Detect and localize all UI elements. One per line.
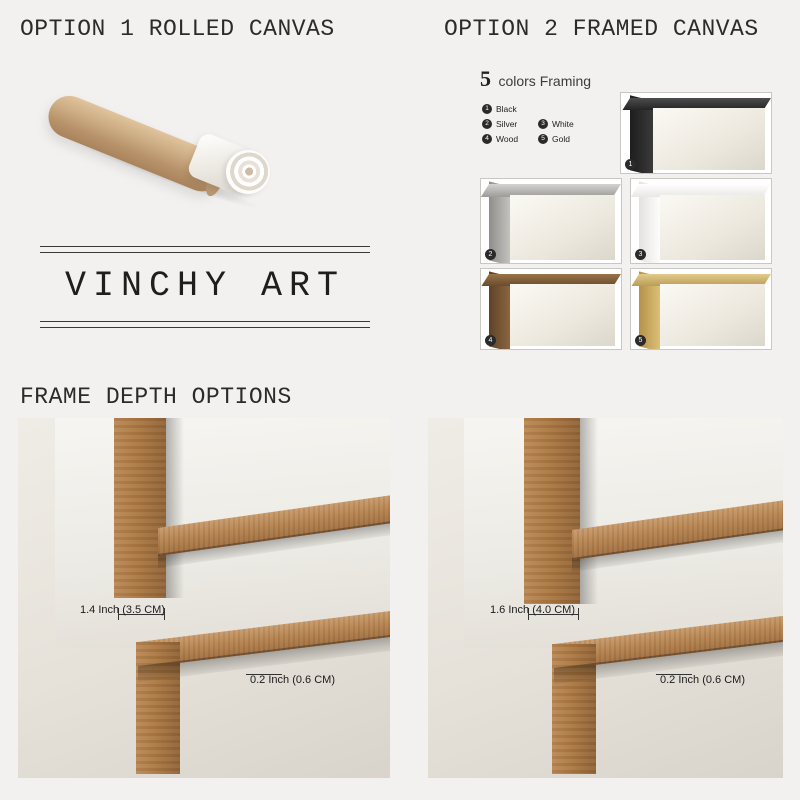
brand-name: VINCHY ART xyxy=(40,253,370,321)
legend-bullet-2: 2 xyxy=(482,119,492,129)
frame-depth-photo-right: 1.6 Inch (4.0 CM) 0.2 Inch (0.6 CM) xyxy=(428,418,783,778)
frame-swatch-number-3: 3 xyxy=(635,249,646,260)
frame-depth-photo-left: 1.4 Inch (3.5 CM) 0.2 Inch (0.6 CM) xyxy=(18,418,390,778)
frame-post-vertical xyxy=(114,418,166,598)
legend-label-gold: Gold xyxy=(552,134,570,144)
frame-swatch-number-1: 1 xyxy=(625,159,636,170)
legend-bullet-3: 3 xyxy=(538,119,548,129)
legend-item-black: 1 Black xyxy=(482,104,538,114)
frame-swatch-number-2: 2 xyxy=(485,249,496,260)
legend-row: 2 Silver 3 White xyxy=(482,119,612,129)
framing-heading-suffix: colors Framing xyxy=(498,73,591,89)
option-1-title: OPTION 1 ROLLED CANVAS xyxy=(20,16,335,42)
frame-thickness-value-right: 0.2 Inch (0.6 CM) xyxy=(660,674,745,686)
frame-depth-value-right: 1.6 Inch (4.0 CM) xyxy=(490,604,575,616)
legend-bullet-1: 1 xyxy=(482,104,492,114)
framing-legend: 1 Black 2 Silver 3 White 4 Wood xyxy=(482,104,612,149)
frame-swatch-white[interactable]: 3 xyxy=(630,178,772,264)
product-info-page: OPTION 1 ROLLED CANVAS VINCHY ART OPTION… xyxy=(0,0,800,800)
post-shadow xyxy=(166,418,184,598)
legend-label-wood: Wood xyxy=(496,134,518,144)
legend-item-silver: 2 Silver xyxy=(482,119,538,129)
legend-bullet-5: 5 xyxy=(538,134,548,144)
frame-depth-title: FRAME DEPTH OPTIONS xyxy=(20,384,292,410)
legend-row: 4 Wood 5 Gold xyxy=(482,134,612,144)
frame-swatch-number-4: 4 xyxy=(485,335,496,346)
rolled-canvas-illustration xyxy=(40,70,300,190)
frame-swatch-wood[interactable]: 4 xyxy=(480,268,622,350)
frame-corner-icon xyxy=(481,179,621,263)
frame-swatch-black[interactable]: 1 xyxy=(620,92,772,174)
legend-item-gold: 5 Gold xyxy=(538,134,594,144)
logo-rule-bottom-2 xyxy=(40,327,370,328)
legend-label-silver: Silver xyxy=(496,119,517,129)
frame-post-vertical xyxy=(524,418,580,604)
framing-count: 5 xyxy=(480,66,491,91)
frame-corner-icon xyxy=(621,93,771,173)
frame-swatch-number-5: 5 xyxy=(635,335,646,346)
brand-logo: VINCHY ART xyxy=(40,246,370,328)
legend-item-white: 3 White xyxy=(538,119,594,129)
option-2-title: OPTION 2 FRAMED CANVAS xyxy=(444,16,759,42)
frame-corner-icon xyxy=(631,179,771,263)
post-shadow xyxy=(580,418,598,604)
legend-label-black: Black xyxy=(496,104,517,114)
frame-corner-icon xyxy=(631,269,771,349)
legend-bullet-4: 4 xyxy=(482,134,492,144)
frame-depth-value-left: 1.4 Inch (3.5 CM) xyxy=(80,604,165,616)
frame-corner-icon xyxy=(481,269,621,349)
framing-options-panel: 5 colors Framing 1 Black 2 Silver 3 Whit… xyxy=(470,56,780,354)
framing-heading: 5 colors Framing xyxy=(480,66,591,92)
frame-swatch-gold[interactable]: 5 xyxy=(630,268,772,350)
frame-thickness-value-left: 0.2 Inch (0.6 CM) xyxy=(250,674,335,686)
frame-swatch-silver[interactable]: 2 xyxy=(480,178,622,264)
legend-row: 1 Black xyxy=(482,104,612,114)
legend-item-wood: 4 Wood xyxy=(482,134,538,144)
dim-tick-b xyxy=(578,608,579,620)
legend-label-white: White xyxy=(552,119,574,129)
